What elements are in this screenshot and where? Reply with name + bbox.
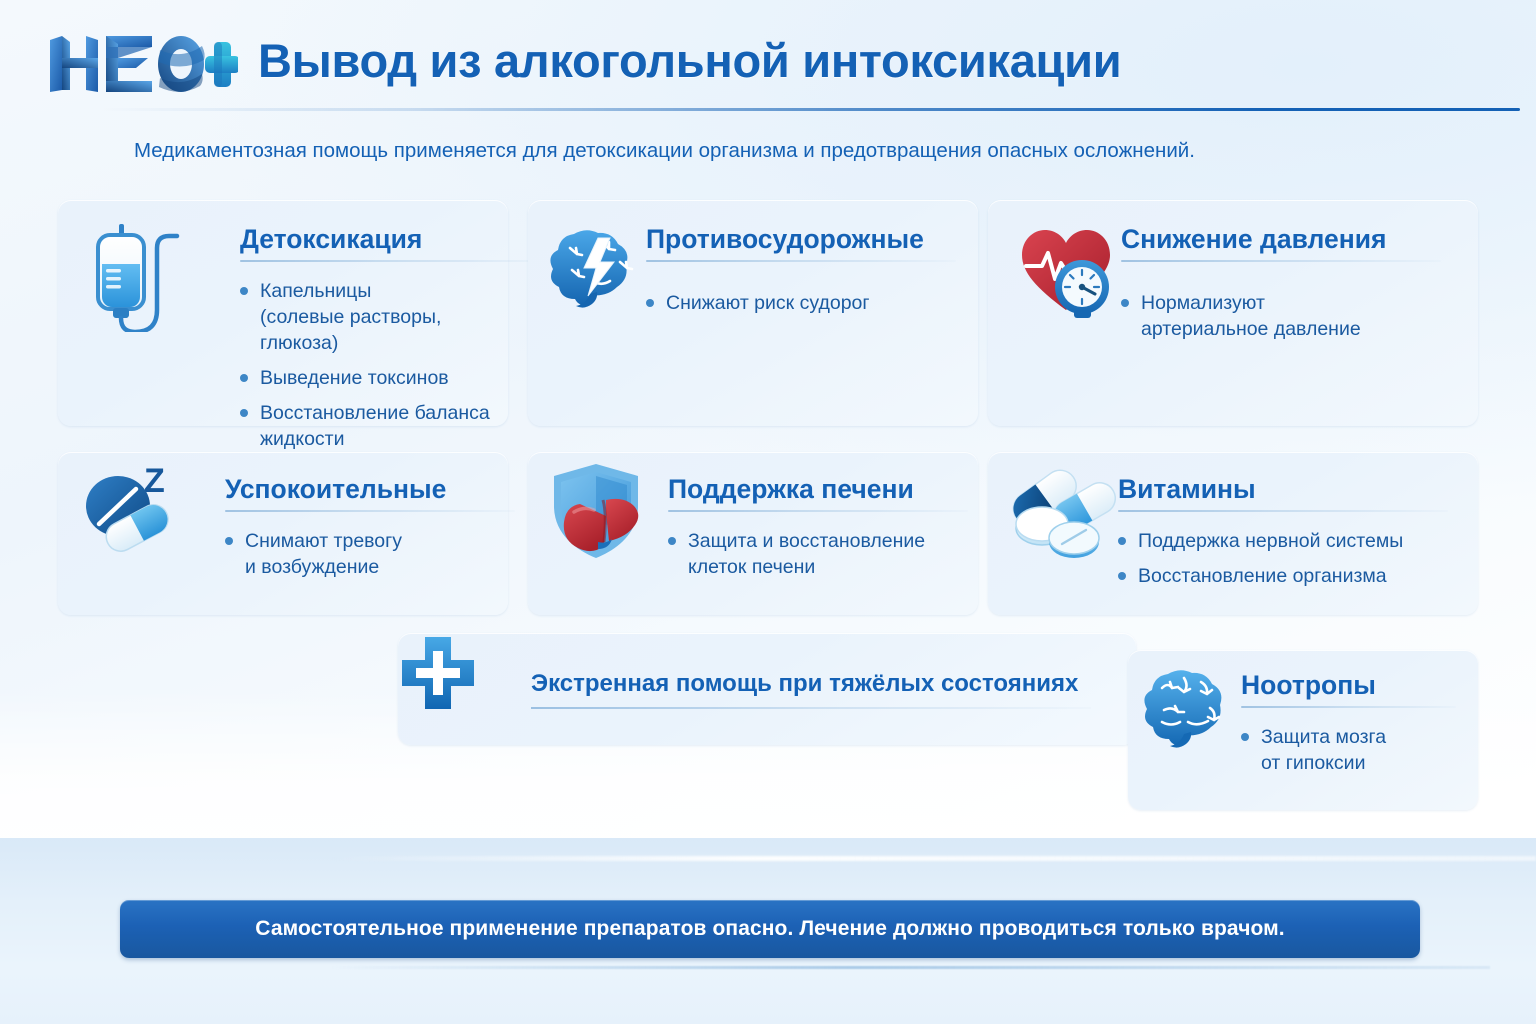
capsules-tablets-icon xyxy=(996,460,1116,570)
card-title-rule xyxy=(240,260,545,262)
header-divider xyxy=(100,108,1520,111)
pills-sleep-z-icon: Z xyxy=(74,458,184,568)
card-title-rule xyxy=(1118,510,1448,512)
card-title: Противосудорожные xyxy=(646,224,924,255)
card-liver-support[interactable]: Поддержка печени Защита и восстановление… xyxy=(528,452,978,615)
card-title-rule xyxy=(1121,260,1441,262)
list-item: Восстановление организма xyxy=(1114,563,1464,589)
card-anticonvulsants[interactable]: Противосудорожные Снижают риск судорог xyxy=(528,200,978,426)
card-title: Успокоительные xyxy=(225,474,446,505)
card-title-rule xyxy=(1241,706,1456,708)
card-title: Снижение давления xyxy=(1121,224,1387,255)
page-title: Вывод из алкогольной интоксикации xyxy=(258,33,1121,88)
iv-drip-icon xyxy=(82,222,192,337)
list-item: Защита и восстановление клеток печени xyxy=(664,528,964,580)
neo-plus-logo-icon xyxy=(48,34,238,96)
card-bullet-list: Снимают тревогу и возбуждение xyxy=(221,528,501,589)
card-title: Поддержка печени xyxy=(668,474,914,505)
card-sedatives[interactable]: Z Успокоительные Снимают тревогу и возбу… xyxy=(58,452,508,615)
list-item: Капельницы (солевые растворы, глюкоза) xyxy=(236,278,498,356)
heart-pressure-gauge-icon xyxy=(1018,222,1118,327)
list-item: Снижают риск судорог xyxy=(642,290,942,316)
infographic-canvas: Вывод из алкогольной интоксикации Медика… xyxy=(0,0,1536,1024)
brain-lightning-icon xyxy=(550,222,650,319)
emergency-rule xyxy=(531,707,1091,709)
card-vitamins[interactable]: Витамины Поддержка нервной системы Восст… xyxy=(988,452,1478,615)
card-title-rule xyxy=(668,510,968,512)
card-blood-pressure[interactable]: Снижение давления Нормализуют артериальн… xyxy=(988,200,1478,426)
list-item: Защита мозга от гипоксии xyxy=(1237,724,1457,776)
card-title-rule xyxy=(225,510,515,512)
card-bullet-list: Нормализуют артериальное давление xyxy=(1117,290,1447,351)
card-detox[interactable]: Детоксикация Капельницы (солевые раствор… xyxy=(58,200,508,426)
list-item: Выведение токсинов xyxy=(236,365,498,391)
card-bullet-list: Капельницы (солевые растворы, глюкоза) В… xyxy=(236,278,498,461)
subtitle: Медикаментозная помощь применяется для д… xyxy=(134,139,1195,163)
brain-icon xyxy=(1144,664,1240,761)
card-bullet-list: Защита и восстановление клеток печени xyxy=(664,528,964,589)
list-item: Снимают тревогу и возбуждение xyxy=(221,528,501,580)
emergency-text: Экстренная помощь при тяжёлых состояниях xyxy=(531,670,1078,698)
card-title: Детоксикация xyxy=(240,224,422,255)
list-item: Нормализуют артериальное давление xyxy=(1117,290,1447,342)
list-item: Восстановление баланса жидкости xyxy=(236,400,498,452)
list-item: Поддержка нервной системы xyxy=(1114,528,1464,554)
shield-liver-icon xyxy=(546,460,654,569)
card-title: Витамины xyxy=(1118,474,1256,505)
emergency-banner[interactable]: Экстренная помощь при тяжёлых состояниях xyxy=(398,633,1136,745)
card-bullet-list: Снижают риск судорог xyxy=(642,290,942,325)
header: Вывод из алкогольной интоксикации xyxy=(0,0,1536,118)
warning-banner[interactable]: Самостоятельное применение препаратов оп… xyxy=(120,900,1420,958)
card-bullet-list: Защита мозга от гипоксии xyxy=(1237,724,1457,785)
card-bullet-list: Поддержка нервной системы Восстановление… xyxy=(1114,528,1464,598)
card-title: Ноотропы xyxy=(1241,670,1376,701)
warning-text: Самостоятельное применение препаратов оп… xyxy=(255,917,1284,941)
card-title-rule xyxy=(646,260,956,262)
card-nootropics[interactable]: Ноотропы Защита мозга от гипоксии xyxy=(1128,650,1478,810)
